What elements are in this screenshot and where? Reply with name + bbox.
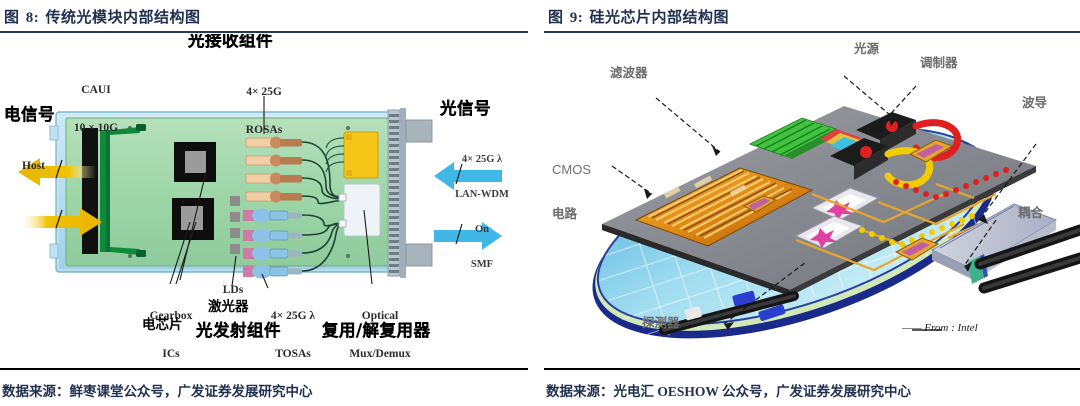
figure-9-canvas: 滤波器 CMOS 电路 光源 调制器 波导 耦合 探测器 —— From : I… [544,34,1080,362]
lds-label-cn: 激光器 [208,300,249,315]
figure-8-top-rule [0,31,528,33]
light-source-label: 光源 [854,42,879,56]
figure-9-caption-text: 硅光芯片内部结构图 [590,10,730,26]
intel-credit-label: —— From : Intel [902,322,978,334]
transmit-assembly-label: 光发射组件 [196,322,281,340]
optical-spec-line4: SMF [436,259,528,271]
caui-label-line1: CAUI [52,84,140,97]
figure-9-caption-number: 9: [570,10,584,26]
caui-label-line2: 10 × 10G [52,122,140,135]
figures-page: 图 8: 传统光模块内部结构图 [0,0,1080,406]
cmos-label-line1: CMOS [552,163,591,178]
figure-8-caption-text: 传统光模块内部结构图 [46,10,201,26]
figure-9-top-rule [544,31,1080,33]
detector-label: 探测器 [642,316,680,330]
figure-8-canvas: CAUI 10 × 10G 电信号 Host 光接收组件 4× 25G ROSA… [0,34,528,362]
mux-label-line2: Mux/Demux [336,348,424,361]
silicon-photonics-chip-diagram [544,34,1080,362]
figure-8-caption-prefix: 图 [4,10,20,26]
figure-8-bottom-rule [0,368,528,370]
figure-8-panel: 图 8: 传统光模块内部结构图 [0,0,528,406]
figure-8-title: 图 8: 传统光模块内部结构图 [0,0,528,31]
gearbox-label-line2: ICs [132,348,210,361]
optical-spec-line1: 4× 25G λ [436,154,528,166]
rosa-label-line2: ROSAs [226,124,302,137]
mux-label-cn: 复用/解复用器 [322,322,431,340]
gearbox-label-cn: 电芯片 [142,318,183,333]
figure-9-source: 数据来源：光电汇 OESHOW 公众号，广发证券发展研究中心 [546,380,911,400]
figure-9-title: 图 9: 硅光芯片内部结构图 [544,0,1080,31]
host-label: Host [22,160,45,173]
tosa-label-line2: TOSAs [252,348,334,361]
modulator-label: 调制器 [920,56,958,70]
optical-spec-label: 4× 25G λ LAN-WDM On SMF [436,130,528,295]
cmos-label: CMOS 电路 [552,134,591,250]
optical-spec-line3: On [436,224,528,236]
electrical-signal-label: 电信号 [4,106,55,124]
coupling-label: 耦合 [1018,206,1043,220]
filter-label: 滤波器 [610,66,648,80]
figure-9-panel: 图 9: 硅光芯片内部结构图 [544,0,1080,406]
caui-label: CAUI 10 × 10G [52,58,140,161]
waveguide-label: 波导 [1022,96,1047,110]
optical-signal-label: 光信号 [440,100,491,118]
receiver-assembly-label: 光接收组件 [188,34,273,50]
rosa-label: 4× 25G ROSAs [226,60,302,163]
panel-divider-gap [528,0,544,406]
lds-label: LDs [212,284,254,297]
optical-spec-line2: LAN-WDM [436,189,528,201]
rosa-label-line1: 4× 25G [226,86,302,99]
figure-8-source: 数据来源：鲜枣课堂公众号，广发证券发展研究中心 [2,380,313,400]
figure-8-caption-number: 8: [26,10,40,26]
figure-9-caption-prefix: 图 [548,10,564,26]
figure-9-bottom-rule [544,368,1080,370]
cmos-label-line2: 电路 [552,207,591,221]
